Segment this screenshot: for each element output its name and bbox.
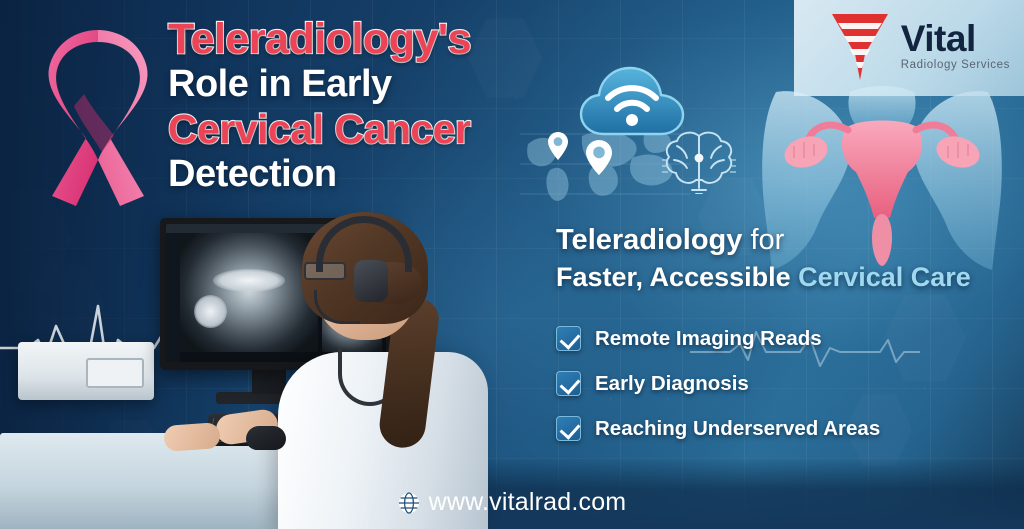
checklist-item-label: Early Diagnosis [595, 372, 749, 396]
subheading-accent: Cervical Care [798, 262, 971, 292]
hand-on-keyboard [163, 422, 221, 452]
radiologist-figure [268, 202, 508, 529]
headline-line-2: Role in Early [168, 64, 568, 105]
subheading-block: Teleradiology for Faster, Accessible Cer… [556, 224, 1016, 293]
checklist-item-label: Remote Imaging Reads [595, 327, 822, 351]
globe-icon [398, 492, 420, 514]
brand-logo[interactable]: Vital Radiology Services [829, 10, 1010, 82]
location-pin-icon-secondary [586, 140, 612, 175]
checklist-item-label: Reaching Underserved Areas [595, 417, 880, 441]
brain-icon [662, 128, 736, 194]
radiology-workstation-scene [0, 196, 548, 529]
check-icon [556, 416, 581, 441]
medical-equipment-box [18, 342, 154, 400]
promo-banner: Teleradiology's Role in Early Cervical C… [0, 0, 1024, 529]
headline: Teleradiology's Role in Early Cervical C… [168, 16, 568, 194]
vital-funnel-icon [829, 10, 891, 82]
check-icon [556, 326, 581, 351]
checklist-item[interactable]: Early Diagnosis [556, 371, 880, 396]
checklist-item[interactable]: Reaching Underserved Areas [556, 416, 880, 441]
logo-tagline: Radiology Services [901, 60, 1010, 72]
logo-wordmark: Vital [901, 20, 1010, 57]
viewer-sidebar [166, 233, 180, 362]
benefits-checklist: Remote Imaging Reads Early Diagnosis Rea… [556, 326, 880, 461]
website-url[interactable]: www.vitalrad.com [429, 488, 627, 517]
subheading-line-1: Teleradiology for [556, 224, 1016, 257]
subheading-white: Faster, Accessible [556, 262, 798, 292]
subheading-line-2: Faster, Accessible Cervical Care [556, 262, 1016, 293]
subheading-light: for [742, 224, 784, 256]
headline-line-1: Teleradiology's [168, 16, 568, 62]
headline-line-3: Cervical Cancer [168, 108, 568, 152]
check-icon [556, 371, 581, 396]
pink-awareness-ribbon-icon [28, 28, 168, 218]
headline-line-4: Detection [168, 154, 568, 195]
computer-mouse[interactable] [246, 426, 286, 450]
checklist-item[interactable]: Remote Imaging Reads [556, 326, 880, 351]
headset-microphone [314, 290, 360, 324]
subheading-bold: Teleradiology [556, 224, 742, 256]
footer[interactable]: www.vitalrad.com [0, 488, 1024, 517]
